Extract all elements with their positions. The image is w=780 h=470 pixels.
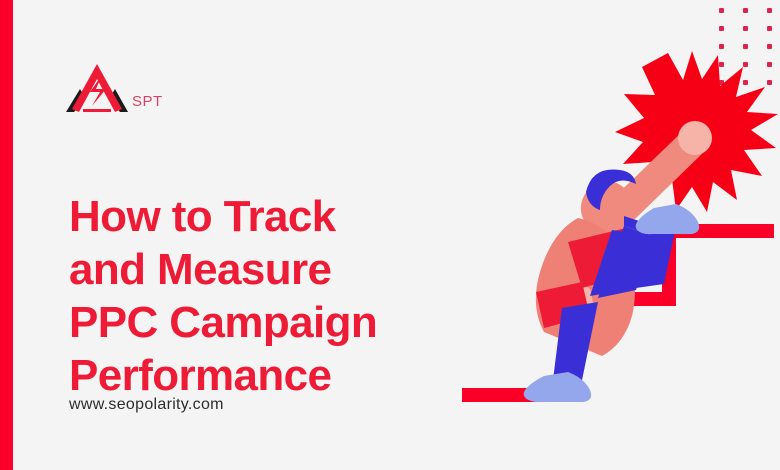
left-accent-bar (0, 0, 13, 470)
dot (719, 26, 724, 31)
headline-line-2: and Measure (69, 243, 489, 296)
logo-text: SPT (132, 93, 163, 110)
spt-triangle-logo-icon (66, 62, 128, 114)
dot (767, 8, 772, 13)
website-url[interactable]: www.seopolarity.com (69, 396, 224, 414)
page-title: How to Track and Measure PPC Campaign Pe… (69, 190, 489, 402)
brand-logo[interactable]: SPT (66, 62, 163, 114)
fist-icon (678, 121, 712, 155)
hero-illustration (440, 40, 780, 430)
dot (719, 8, 724, 13)
headline-line-4: Performance (69, 349, 489, 402)
dot (743, 26, 748, 31)
headline-line-1: How to Track (69, 190, 489, 243)
dot (743, 8, 748, 13)
dot (767, 26, 772, 31)
banner-canvas: SPT How to Track and Measure PPC Campaig… (0, 0, 780, 470)
headline-line-3: PPC Campaign (69, 296, 489, 349)
